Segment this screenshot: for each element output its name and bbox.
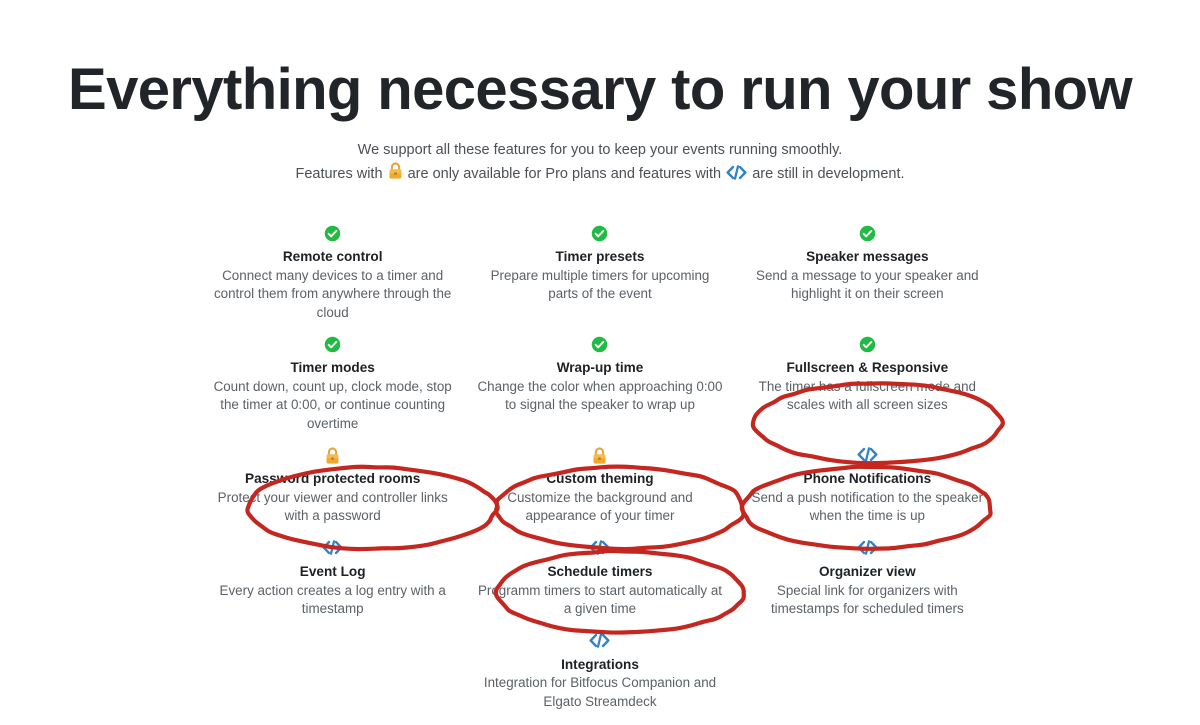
feature-description: Count down, count up, clock mode, stop t… [207, 378, 458, 434]
check-circle-icon [207, 336, 458, 356]
feature-title: Timer modes [207, 359, 458, 377]
feature-title: Schedule timers [474, 563, 725, 581]
feature-card: Organizer viewSpecial link for organizer… [734, 540, 1001, 619]
subtitle-part-3: are still in development. [752, 166, 904, 182]
feature-card: Fullscreen & ResponsiveThe timer has a f… [734, 336, 1001, 433]
code-icon [726, 165, 747, 188]
code-icon [207, 540, 458, 560]
feature-card: Phone NotificationsSend a push notificat… [734, 447, 1001, 526]
feature-card: Timer modesCount down, count up, clock m… [199, 336, 466, 433]
feature-title: Phone Notifications [742, 470, 993, 488]
feature-description: Connect many devices to a timer and cont… [207, 267, 458, 323]
feature-description: Send a push notification to the speaker … [742, 489, 993, 526]
feature-title: Password protected rooms [207, 470, 458, 488]
feature-title: Timer presets [474, 248, 725, 266]
lock-icon [388, 162, 403, 188]
subtitle-line-1: We support all these features for you to… [0, 139, 1200, 162]
feature-description: Programm timers to start automatically a… [474, 582, 725, 619]
subtitle-part-1: Features with [295, 166, 382, 182]
feature-card: Password protected roomsProtect your vie… [199, 447, 466, 526]
feature-title: Remote control [207, 248, 458, 266]
feature-description: Integration for Bitfocus Companion and E… [474, 674, 725, 711]
code-icon [474, 540, 725, 560]
check-circle-icon [742, 225, 993, 245]
page-subtitle: We support all these features for you to… [0, 139, 1200, 189]
feature-card: Schedule timersProgramm timers to start … [466, 540, 733, 619]
feature-title: Speaker messages [742, 248, 993, 266]
feature-description: Protect your viewer and controller links… [207, 489, 458, 526]
lock-icon [207, 447, 458, 467]
feature-description: Special link for organizers with timesta… [742, 582, 993, 619]
feature-description: Customize the background and appearance … [474, 489, 725, 526]
code-icon [742, 540, 993, 560]
page-header: Everything necessary to run your show We… [0, 0, 1200, 189]
feature-title: Fullscreen & Responsive [742, 359, 993, 377]
feature-card: Remote controlConnect many devices to a … [199, 225, 466, 322]
feature-description: The timer has a fullscreen mode and scal… [742, 378, 993, 415]
features-grid: Remote controlConnect many devices to a … [199, 189, 1001, 725]
feature-title: Wrap-up time [474, 359, 725, 377]
subtitle-part-2: are only available for Pro plans and fea… [408, 166, 722, 182]
check-circle-icon [474, 225, 725, 245]
check-circle-icon [742, 336, 993, 356]
feature-title: Event Log [207, 563, 458, 581]
feature-description: Change the color when approaching 0:00 t… [474, 378, 725, 415]
feature-card: Timer presetsPrepare multiple timers for… [466, 225, 733, 322]
feature-description: Every action creates a log entry with a … [207, 582, 458, 619]
code-icon [742, 447, 993, 467]
check-circle-icon [474, 336, 725, 356]
feature-title: Organizer view [742, 563, 993, 581]
feature-description: Prepare multiple timers for upcoming par… [474, 267, 725, 304]
feature-card: Custom themingCustomize the background a… [466, 447, 733, 526]
feature-title: Integrations [474, 656, 725, 674]
page-title: Everything necessary to run your show [0, 58, 1200, 123]
lock-icon [474, 447, 725, 467]
feature-card: Event LogEvery action creates a log entr… [199, 540, 466, 619]
subtitle-line-2: Features with are only available for Pro… [0, 162, 1200, 188]
feature-title: Custom theming [474, 470, 725, 488]
feature-card: Speaker messagesSend a message to your s… [734, 225, 1001, 322]
feature-card: IntegrationsIntegration for Bitfocus Com… [466, 633, 733, 712]
check-circle-icon [207, 225, 458, 245]
feature-description: Send a message to your speaker and highl… [742, 267, 993, 304]
feature-card: Wrap-up timeChange the color when approa… [466, 336, 733, 433]
code-icon [474, 633, 725, 653]
